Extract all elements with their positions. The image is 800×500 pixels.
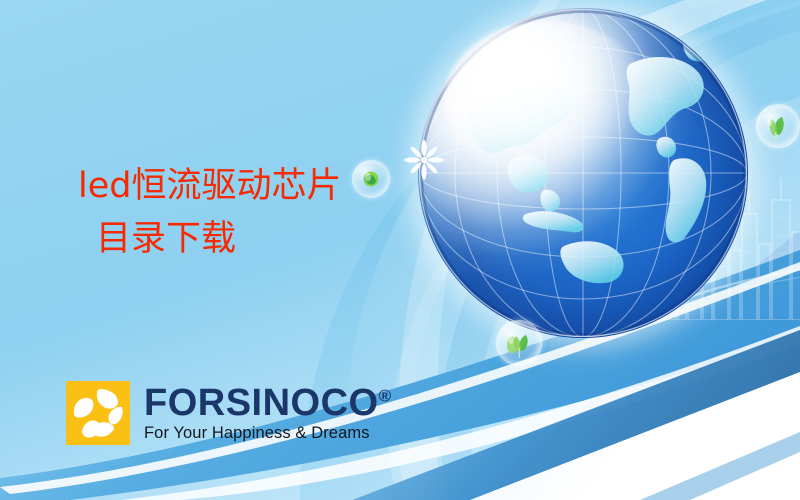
forsinoco-pinwheel-mark xyxy=(66,381,130,445)
logo-text-block: FORSINOCO® For Your Happiness & Dreams xyxy=(144,381,392,443)
headline-line-1: led恒流驱动芯片 xyxy=(78,160,418,213)
poster-canvas: led恒流驱动芯片 目录下载 FORSINOCO® For Your Happi… xyxy=(0,0,800,500)
green-leaves-icon xyxy=(496,320,542,366)
brand-name: FORSINOCO® xyxy=(144,383,392,423)
company-logo: FORSINOCO® For Your Happiness & Dreams xyxy=(66,381,392,445)
globe-specular-highlight xyxy=(444,21,649,179)
green-leaves-icon xyxy=(756,104,800,148)
bubble-3 xyxy=(756,104,800,148)
pinwheel-icon xyxy=(66,381,130,445)
headline-text: led恒流驱动芯片 目录下载 xyxy=(78,160,418,266)
ribbon-band-white xyxy=(470,372,800,500)
bubble-2 xyxy=(496,320,542,366)
ribbon-accent-stripe xyxy=(640,432,800,500)
brand-wordmark: FORSINOCO xyxy=(144,382,379,424)
earth-globe xyxy=(418,8,748,338)
brand-tagline: For Your Happiness & Dreams xyxy=(144,424,392,443)
ribbon-band-deep xyxy=(352,330,800,500)
headline-line-2: 目录下载 xyxy=(96,213,418,266)
registered-trademark-symbol: ® xyxy=(379,386,392,405)
